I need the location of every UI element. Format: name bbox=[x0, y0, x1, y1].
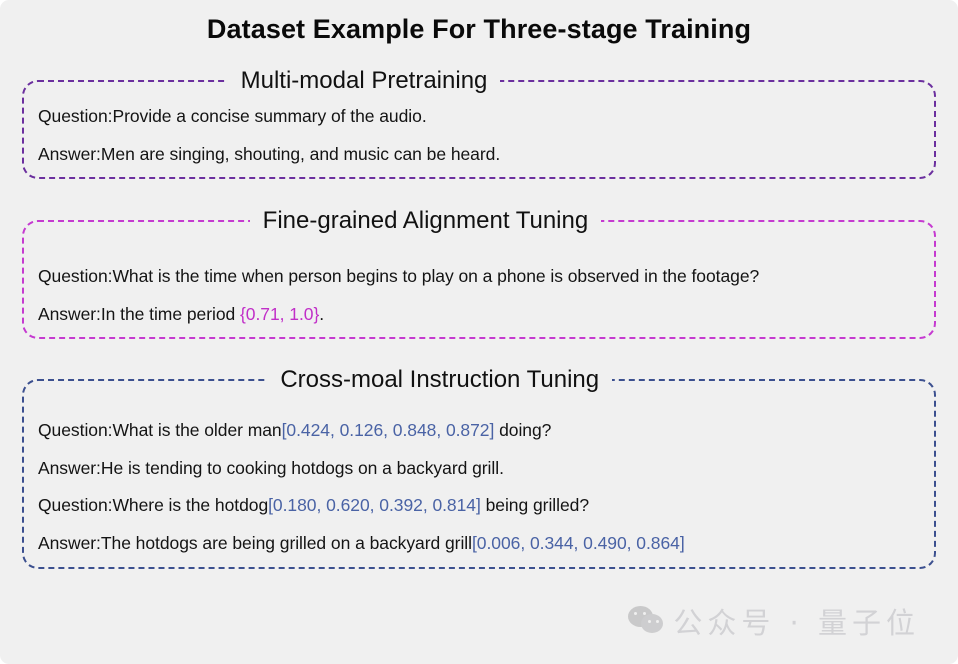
stage-list: Multi-modal Pretraining Question:Provide… bbox=[0, 67, 958, 569]
qa-text: Question:What is the time when person be… bbox=[38, 266, 759, 286]
wechat-logo-icon bbox=[628, 606, 664, 636]
qa-text: Answer:He is tending to cooking hotdogs … bbox=[38, 458, 504, 478]
stage-body-2: Question:What is the time when person be… bbox=[38, 235, 920, 326]
qa-line: Answer:The hotdogs are being grilled on … bbox=[38, 533, 920, 553]
stage-panel-multi-modal-pretraining: Multi-modal Pretraining Question:Provide… bbox=[22, 67, 936, 179]
stage-panel-fine-grained-alignment-tuning: Fine-grained Alignment Tuning Question:W… bbox=[22, 207, 936, 339]
qa-text-after: doing? bbox=[494, 420, 551, 440]
qa-text: Question:Provide a concise summary of th… bbox=[38, 106, 427, 126]
stage-body-1: Question:Provide a concise summary of th… bbox=[38, 95, 920, 166]
qa-line: Question:Where is the hotdog[0.180, 0.62… bbox=[38, 495, 920, 515]
watermark-text: 公众号 · 量子位 bbox=[673, 600, 920, 642]
qa-line: Answer:In the time period {0.71, 1.0}. bbox=[38, 304, 920, 324]
qa-line: Answer:Men are singing, shouting, and mu… bbox=[38, 144, 920, 164]
watermark: 公众号 · 量子位 bbox=[628, 600, 920, 642]
qa-text: Answer:In the time period bbox=[38, 304, 240, 324]
qa-line: Question:What is the older man[0.424, 0.… bbox=[38, 420, 920, 440]
page-title: Dataset Example For Three-stage Training bbox=[0, 0, 958, 46]
stage-panel-cross-modal-instruction-tuning: Cross-moal Instruction Tuning Question:W… bbox=[22, 366, 936, 569]
qa-line: Answer:He is tending to cooking hotdogs … bbox=[38, 458, 920, 478]
qa-line: Question:What is the time when person be… bbox=[38, 266, 920, 286]
bbox-highlight: [0.006, 0.344, 0.490, 0.864] bbox=[472, 533, 685, 553]
qa-text-after: being grilled? bbox=[481, 495, 589, 515]
stage-legend-3: Cross-moal Instruction Tuning bbox=[267, 366, 612, 394]
figure-canvas: Dataset Example For Three-stage Training… bbox=[0, 0, 958, 664]
qa-text: Question:Where is the hotdog bbox=[38, 495, 268, 515]
qa-line: Question:Provide a concise summary of th… bbox=[38, 106, 920, 126]
bbox-highlight: [0.180, 0.620, 0.392, 0.814] bbox=[268, 495, 481, 515]
stage-body-3: Question:What is the older man[0.424, 0.… bbox=[38, 394, 920, 555]
qa-text: Answer:Men are singing, shouting, and mu… bbox=[38, 144, 500, 164]
qa-text: Question:What is the older man bbox=[38, 420, 282, 440]
stage-legend-1: Multi-modal Pretraining bbox=[228, 67, 501, 95]
qa-text-after: . bbox=[319, 304, 324, 324]
timestamp-highlight: {0.71, 1.0} bbox=[240, 304, 319, 324]
bbox-highlight: [0.424, 0.126, 0.848, 0.872] bbox=[282, 420, 495, 440]
stage-legend-2: Fine-grained Alignment Tuning bbox=[250, 207, 602, 235]
qa-text: Answer:The hotdogs are being grilled on … bbox=[38, 533, 472, 553]
